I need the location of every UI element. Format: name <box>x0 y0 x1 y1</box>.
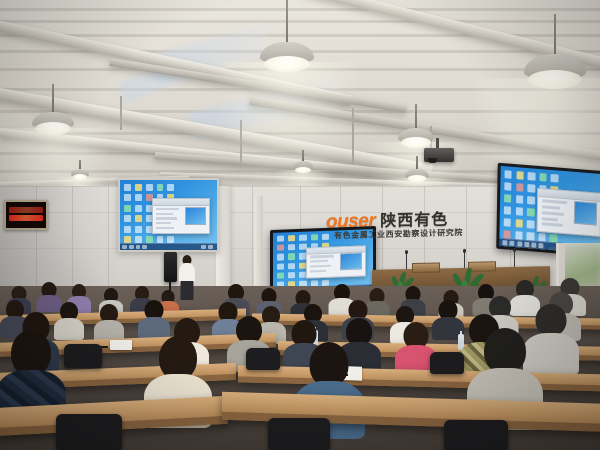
attendee <box>140 300 168 336</box>
pendant-light <box>30 84 76 144</box>
laptop <box>110 340 132 350</box>
desktop-image <box>120 180 217 250</box>
presenter-top <box>179 263 195 283</box>
chair <box>246 348 280 370</box>
attendee <box>96 304 122 338</box>
chair <box>430 352 464 374</box>
microphone <box>406 253 407 269</box>
microphone <box>464 252 465 268</box>
attendee <box>434 300 462 336</box>
chair <box>268 418 330 450</box>
chair <box>444 420 508 450</box>
pendant-light <box>70 160 90 188</box>
dialog-window <box>152 198 210 234</box>
chair <box>64 344 102 368</box>
taskbar <box>120 243 217 250</box>
banner-subtitle: 有色金属工业西安勘察设计研究院 <box>334 227 463 241</box>
dialog-window <box>537 188 600 237</box>
wall-pillar <box>254 196 263 292</box>
left-projection-screen <box>118 178 219 252</box>
room-scene: ouser陕西有色 有色金属工业西安勘察设计研究院 <box>0 0 600 450</box>
company-banner: ouser陕西有色 有色金属工业西安勘察设计研究院 <box>326 202 526 253</box>
chair <box>56 414 122 450</box>
pendant-light <box>292 150 314 180</box>
attendee <box>398 322 434 372</box>
pendant-light <box>258 0 316 78</box>
presenter <box>176 255 198 300</box>
pendant-light <box>520 14 590 100</box>
ceiling-projector <box>424 148 454 162</box>
microphone <box>514 251 515 267</box>
led-scrolling-board <box>4 200 48 230</box>
nameplate <box>412 262 440 273</box>
presenter-bottom <box>181 281 194 300</box>
